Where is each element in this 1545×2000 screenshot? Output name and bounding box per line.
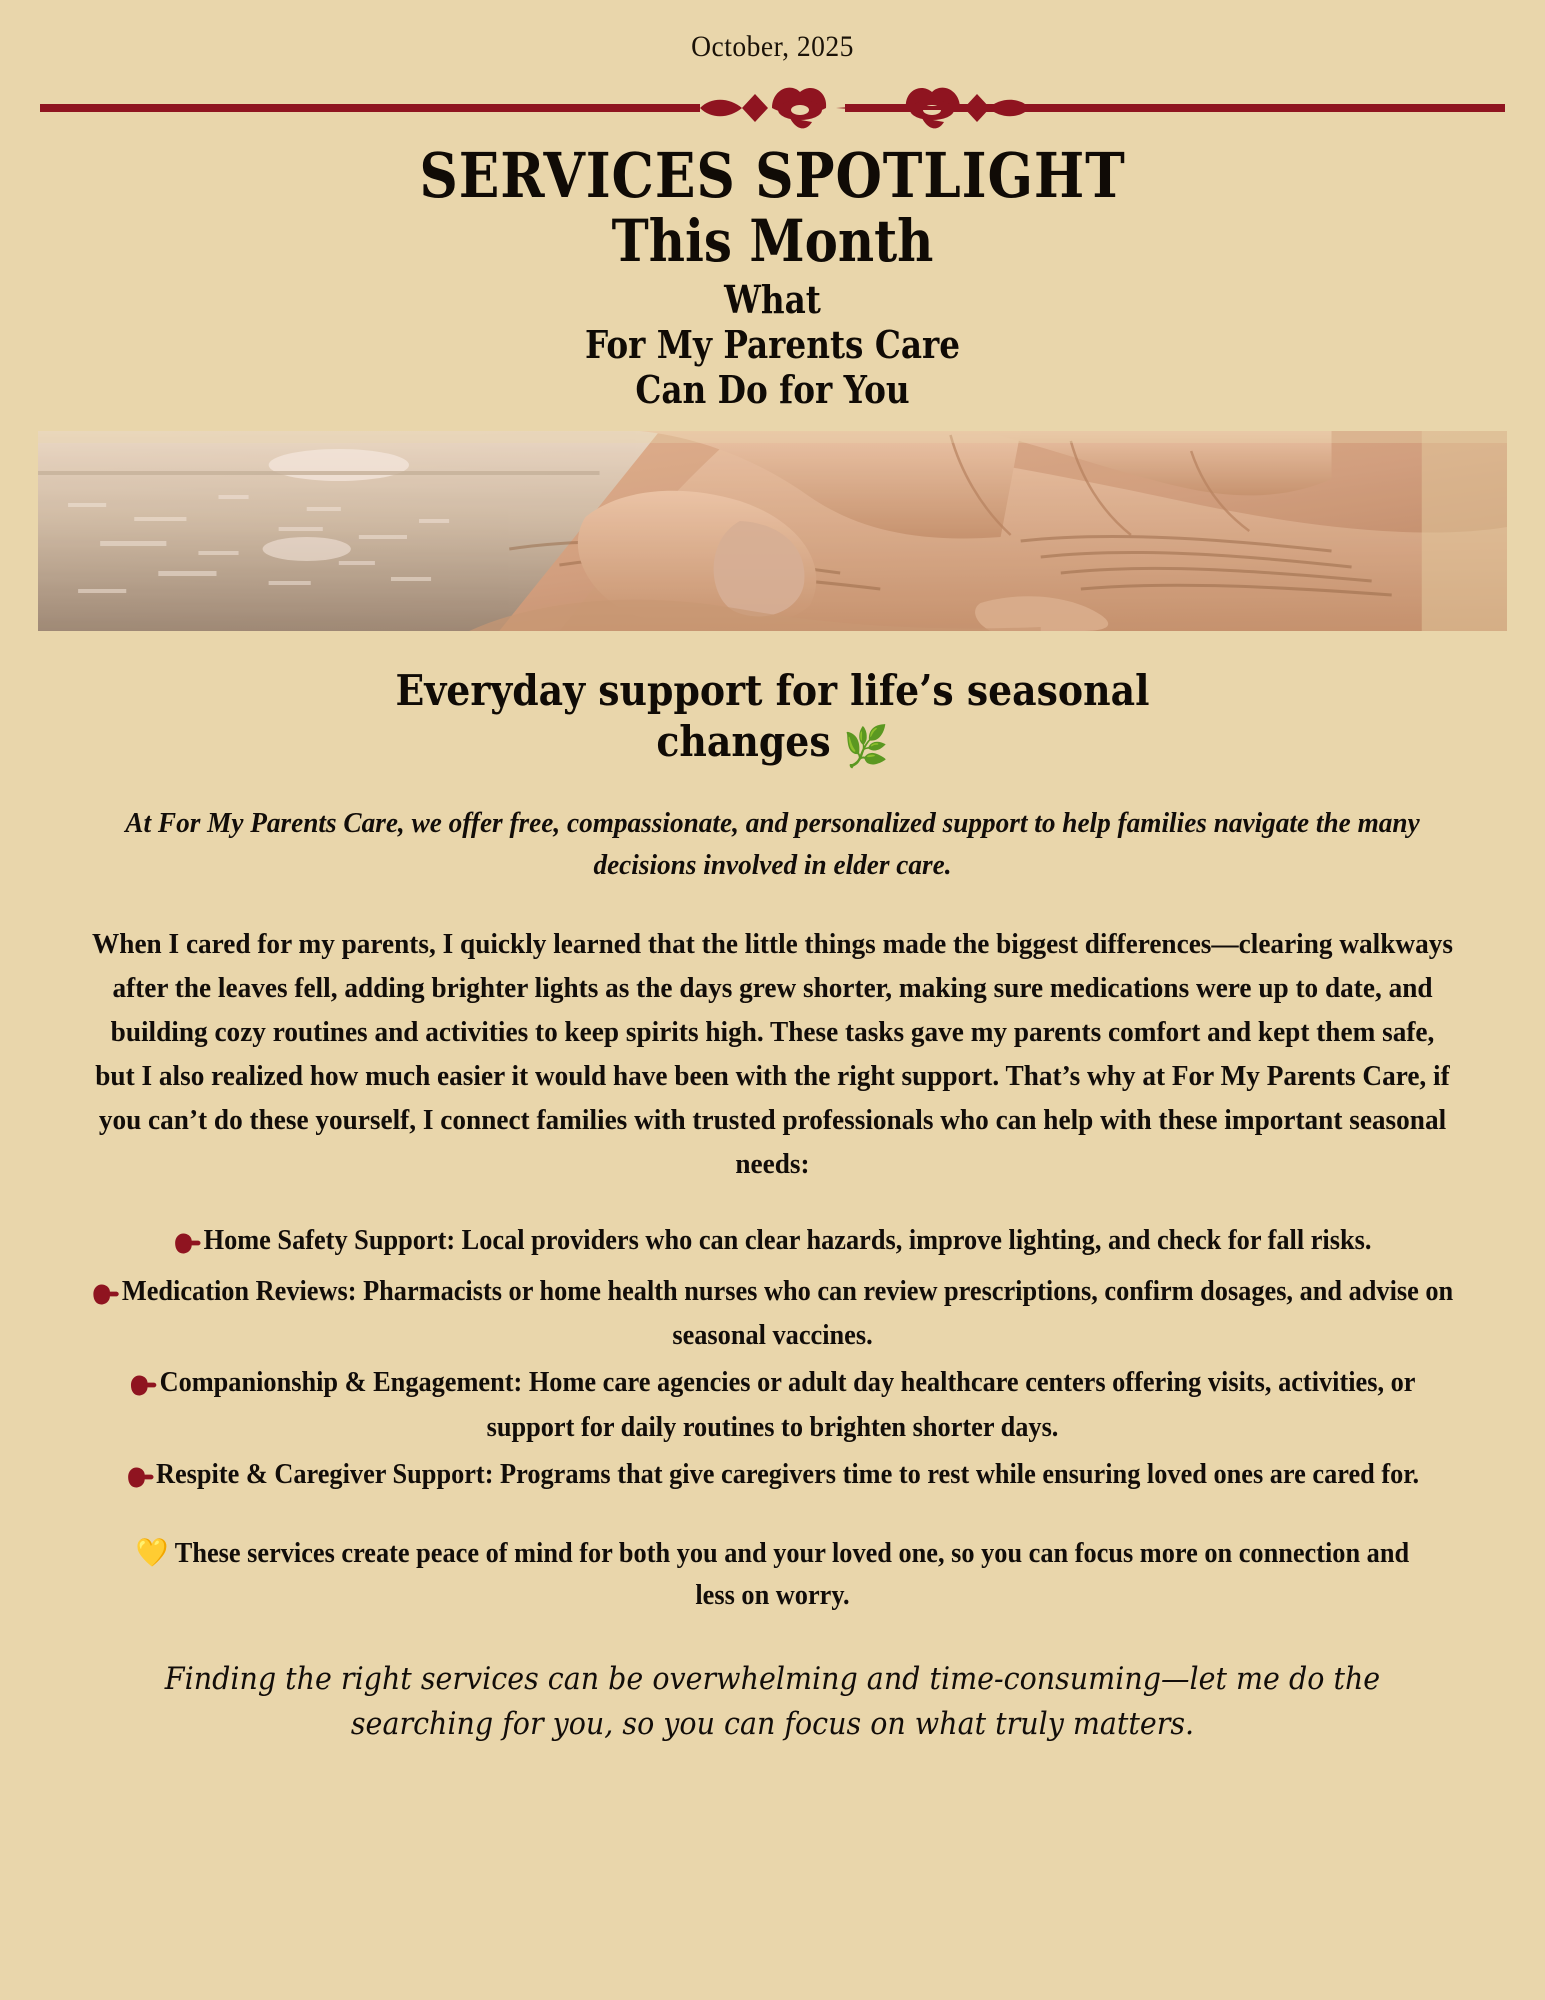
yellow-heart-icon: 💛 <box>136 1538 169 1569</box>
list-item-text: Respite & Caregiver Support: Programs th… <box>156 1459 1419 1490</box>
page-subtitle: This Month <box>108 211 1437 272</box>
peace-of-mind-text: These services create peace of mind for … <box>175 1538 1409 1611</box>
list-item: Home Safety Support: Local providers who… <box>86 1220 1459 1264</box>
intro-paragraph: At For My Parents Care, we offer free, c… <box>46 802 1498 886</box>
list-item-text: Home Safety Support: Local providers who… <box>204 1225 1372 1256</box>
newsletter-page: October, 2025 <box>0 0 1545 2000</box>
pointing-hand-icon <box>126 1454 154 1498</box>
section-subtitle: Everyday support for life’s seasonal cha… <box>77 665 1468 772</box>
ornamental-divider <box>0 80 1545 136</box>
herb-leaf-icon: 🌿 <box>844 723 889 770</box>
page-title: SERVICES SPOTLIGHT <box>108 144 1437 207</box>
issue-date: October, 2025 <box>62 0 1483 64</box>
list-item-text: Medication Reviews: Pharmacists or home … <box>122 1276 1453 1351</box>
banner-image <box>38 431 1507 631</box>
list-item: Companionship & Engagement: Home care ag… <box>86 1362 1459 1448</box>
ornamental-divider-icon <box>0 80 1545 136</box>
headline-block: SERVICES SPOTLIGHT This Month What For M… <box>0 136 1545 413</box>
peace-of-mind-paragraph: 💛 These services create peace of mind fo… <box>46 1533 1498 1617</box>
pointing-hand-icon <box>174 1220 202 1264</box>
services-list: Home Safety Support: Local providers who… <box>0 1220 1545 1498</box>
list-item: Respite & Caregiver Support: Programs th… <box>86 1454 1459 1498</box>
section-subtitle-text: Everyday support for life’s seasonal cha… <box>396 666 1150 766</box>
list-item: Medication Reviews: Pharmacists or home … <box>86 1271 1459 1357</box>
closing-paragraph: Finding the right services can be overwh… <box>62 1657 1483 1747</box>
body-paragraph: When I cared for my parents, I quickly l… <box>46 922 1498 1186</box>
title-tagline: Can Do for You <box>108 368 1437 413</box>
pointing-hand-icon <box>129 1362 157 1406</box>
title-what: What <box>108 278 1437 323</box>
holding-hands-photo-icon <box>38 431 1507 631</box>
list-item-text: Companionship & Engagement: Home care ag… <box>160 1367 1416 1442</box>
title-brand-line: For My Parents Care <box>108 323 1437 368</box>
pointing-hand-icon <box>92 1271 120 1315</box>
